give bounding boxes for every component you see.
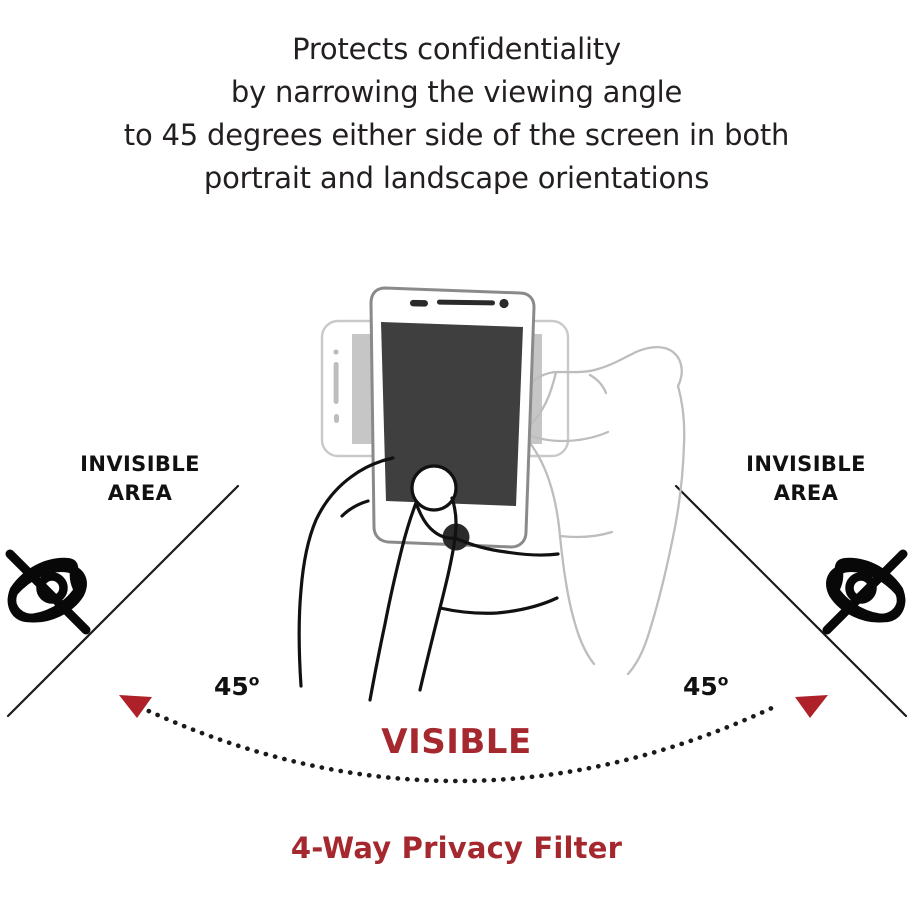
invisible-area-label-right: INVISIBLE AREA bbox=[710, 450, 902, 508]
arrow-right-marker bbox=[795, 695, 828, 718]
ghost-landscape-phone bbox=[322, 321, 568, 456]
arrow-left-marker bbox=[119, 695, 152, 718]
invisible-area-label-left-line1: INVISIBLE bbox=[44, 450, 236, 479]
degree-symbol-left: o bbox=[249, 672, 260, 690]
header-line-1: Protects confidentiality bbox=[0, 28, 913, 71]
header-line-3: to 45 degrees either side of the screen … bbox=[0, 114, 913, 157]
angle-label-left-value: 45 bbox=[214, 672, 249, 701]
ghost-right-hand bbox=[521, 347, 684, 674]
eye-slash-icon-left bbox=[10, 554, 86, 630]
header-description: Protects confidentiality by narrowing th… bbox=[0, 28, 913, 200]
header-line-2: by narrowing the viewing angle bbox=[0, 71, 913, 114]
invisible-area-label-right-line2: AREA bbox=[710, 479, 902, 508]
invisible-area-label-left: INVISIBLE AREA bbox=[44, 450, 236, 508]
portrait-phone bbox=[371, 288, 534, 551]
visible-area-label: VISIBLE bbox=[0, 722, 913, 762]
header-line-4: portrait and landscape orientations bbox=[0, 157, 913, 200]
foreground-left-hand bbox=[299, 458, 558, 700]
cone-line-left bbox=[8, 486, 238, 716]
angle-label-right-value: 45 bbox=[683, 672, 718, 701]
eye-slash-icon-right bbox=[827, 554, 903, 630]
angle-label-right: 45o bbox=[683, 672, 728, 701]
invisible-area-label-left-line2: AREA bbox=[44, 479, 236, 508]
infographic-canvas: Protects confidentiality by narrowing th… bbox=[0, 0, 913, 913]
invisible-area-label-right-line1: INVISIBLE bbox=[710, 450, 902, 479]
degree-symbol-right: o bbox=[718, 672, 729, 690]
product-title: 4-Way Privacy Filter bbox=[0, 831, 913, 865]
angle-label-left: 45o bbox=[214, 672, 259, 701]
